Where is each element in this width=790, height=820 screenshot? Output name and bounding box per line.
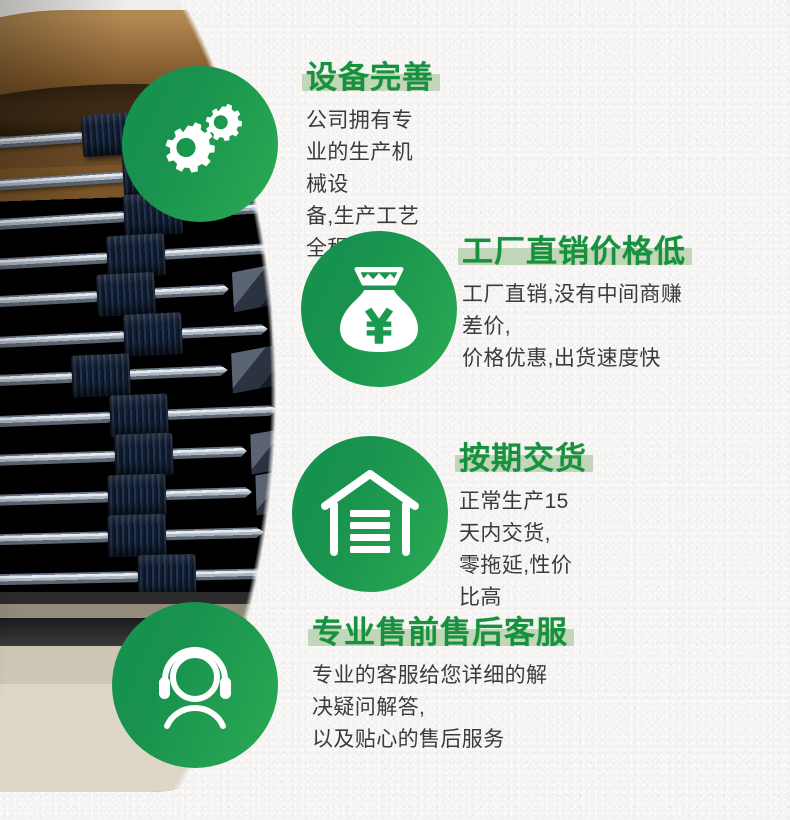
money-bag-yuan-icon xyxy=(331,257,427,361)
feature-3-body: 正常生产15天内交货, 零拖延,性价比高 xyxy=(459,486,587,614)
feature-2-heading-wrap: 工厂直销价格低 xyxy=(462,236,686,267)
support-icon-badge xyxy=(112,602,278,768)
feature-3-heading: 按期交货 xyxy=(459,443,587,474)
feature-4-heading-wrap: 专业售前售后客服 xyxy=(312,617,568,648)
gears-icon xyxy=(148,92,252,196)
feature-1-heading-wrap: 设备完善 xyxy=(306,62,434,93)
money-bag-icon-badge xyxy=(301,231,457,387)
gears-icon-badge xyxy=(122,66,278,222)
warehouse-icon-badge xyxy=(292,436,448,592)
feature-2-body: 工厂直销,没有中间商赚差价, 价格优惠,出货速度快 xyxy=(462,279,686,375)
feature-4-heading: 专业售前售后客服 xyxy=(312,617,568,648)
feature-2-heading: 工厂直销价格低 xyxy=(462,236,686,267)
promo-banner: 设备完善 公司拥有专业的生产机械设 备,生产工艺全程自动化 xyxy=(0,0,790,820)
feature-4-body: 专业的客服给您详细的解决疑问解答, 以及贴心的售后服务 xyxy=(312,660,568,756)
feature-3-copy: 按期交货 正常生产15天内交货, 零拖延,性价比高 xyxy=(459,443,587,614)
feature-3-heading-wrap: 按期交货 xyxy=(459,443,587,474)
warehouse-icon xyxy=(317,464,423,564)
feature-4-copy: 专业售前售后客服 专业的客服给您详细的解决疑问解答, 以及贴心的售后服务 xyxy=(312,617,568,756)
feature-2-copy: 工厂直销价格低 工厂直销,没有中间商赚差价, 价格优惠,出货速度快 xyxy=(462,236,686,375)
feature-1-heading: 设备完善 xyxy=(306,62,434,93)
headset-support-icon xyxy=(143,633,247,737)
